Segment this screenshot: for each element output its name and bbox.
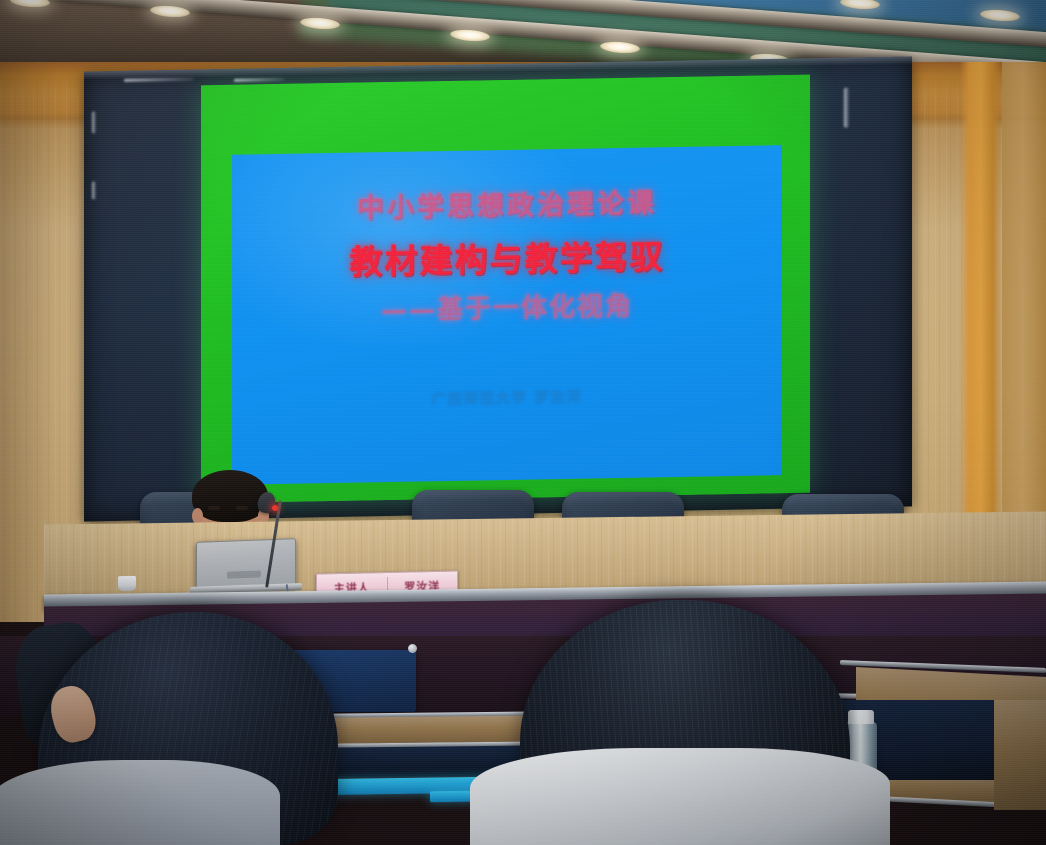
frame-specular-3 (92, 111, 96, 133)
projection-screen: 中小学思想政治理论课 教材建构与教学驾驭 ——基于一体化视角 广西师范大学 罗汝… (201, 75, 810, 504)
frame-specular-2 (234, 78, 284, 82)
water-cup (118, 576, 136, 591)
bottle-cap-b (848, 710, 874, 724)
slide-heading-line1: 中小学思想政治理论课 (232, 179, 782, 228)
audience-member-right-shoulders (470, 748, 890, 845)
presentation-slide: 中小学思想政治理论课 教材建构与教学驾驭 ——基于一体化视角 广西师范大学 罗汝… (232, 145, 782, 485)
desk-surface-4 (994, 700, 1046, 810)
spotlight-icon (10, 0, 51, 9)
microphone-status-led (272, 505, 278, 511)
speaker-hair (192, 470, 268, 522)
laptop-logo (227, 570, 261, 578)
frame-specular-1 (124, 78, 194, 82)
slide-heading-line2: 教材建构与教学驾驭 (232, 228, 782, 286)
frame-specular-5 (844, 88, 849, 128)
frame-specular-4 (92, 181, 96, 199)
monitor-knob-right (408, 644, 417, 653)
lecture-hall-photo: 中小学思想政治理论课 教材建构与教学驾驭 ——基于一体化视角 广西师范大学 罗汝… (0, 0, 1046, 845)
speaker-eye-left (208, 506, 220, 510)
speaker-eye-right (236, 506, 248, 510)
slide-presenter-attribution: 广西师范大学 罗汝洋 (232, 383, 782, 413)
audience-member-left-shoulders (0, 760, 280, 845)
